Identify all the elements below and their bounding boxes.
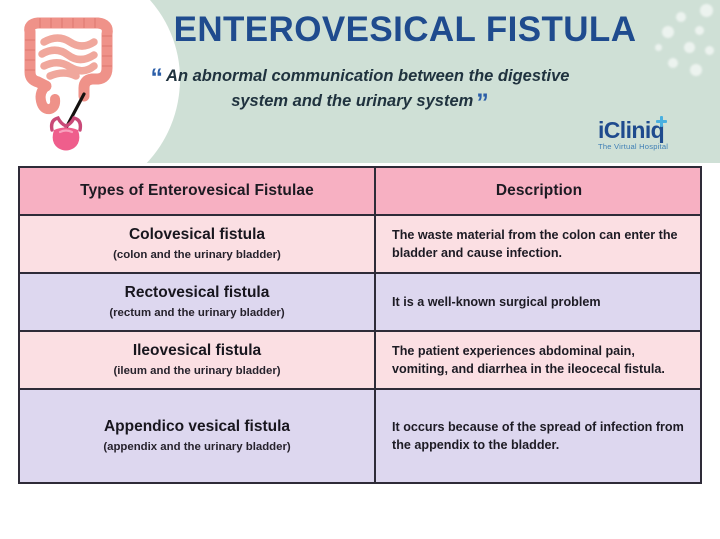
logo-wordmark: iCliniq — [598, 118, 664, 142]
fistula-type-name: Ileovesical fistula — [133, 341, 261, 361]
cell-description: The patient experiences abdominal pain, … — [376, 332, 700, 388]
decorative-bubble — [668, 58, 678, 68]
quote-text-2: system and the urinary system — [231, 92, 473, 110]
fistula-type-subtitle: (appendix and the urinary bladder) — [103, 439, 290, 455]
intestine-and-bladder-illustration — [6, 6, 138, 154]
fistula-type-name: Colovesical fistula — [129, 225, 265, 245]
column-header-description-label: Description — [496, 182, 582, 200]
decorative-bubble — [695, 26, 704, 35]
decorative-bubble — [705, 46, 714, 55]
fistula-type-subtitle: (rectum and the urinary bladder) — [109, 305, 284, 321]
fistula-description: It is a well-known surgical problem — [392, 293, 686, 312]
header-band: ENTEROVESICAL FISTULA “An abnormal commu… — [0, 0, 720, 163]
cell-type: Appendico vesical fistula (appendix and … — [20, 390, 376, 482]
fistula-description: It occurs because of the spread of infec… — [392, 418, 686, 455]
large-intestine-icon — [25, 18, 112, 109]
table-header-row: Types of Enterovesical Fistulae Descript… — [20, 168, 700, 216]
infographic-page: ENTEROVESICAL FISTULA “An abnormal commu… — [0, 0, 720, 539]
decorative-bubble — [690, 64, 702, 76]
logo-text: iCliniq — [598, 117, 664, 143]
decorative-bubble — [676, 12, 686, 22]
cell-description: It is a well-known surgical problem — [376, 274, 700, 330]
column-header-types-label: Types of Enterovesical Fistulae — [80, 182, 314, 200]
quote-text-1: An abnormal communication between the di… — [166, 67, 569, 85]
quote-line-1: “An abnormal communication between the d… — [140, 64, 580, 89]
logo-tagline: The Virtual Hospital — [598, 142, 710, 152]
fistula-type-name: Appendico vesical fistula — [104, 417, 290, 437]
cell-type: Rectovesical fistula (rectum and the uri… — [20, 274, 376, 330]
close-quote-icon: ” — [476, 89, 489, 117]
quote-block: “An abnormal communication between the d… — [140, 64, 580, 114]
fistula-description: The waste material from the colon can en… — [392, 226, 686, 263]
table-row: Appendico vesical fistula (appendix and … — [20, 390, 700, 482]
cell-description: The waste material from the colon can en… — [376, 216, 700, 272]
fistula-type-subtitle: (ileum and the urinary bladder) — [113, 363, 280, 379]
fistula-type-name: Rectovesical fistula — [125, 283, 270, 303]
open-quote-icon: “ — [151, 64, 164, 92]
cell-type: Colovesical fistula (colon and the urina… — [20, 216, 376, 272]
column-header-types: Types of Enterovesical Fistulae — [20, 168, 376, 214]
cell-type: Ileovesical fistula (ileum and the urina… — [20, 332, 376, 388]
decorative-bubble — [700, 4, 713, 17]
decorative-bubble — [684, 42, 695, 53]
fistula-type-subtitle: (colon and the urinary bladder) — [113, 247, 281, 263]
fistula-description: The patient experiences abdominal pain, … — [392, 342, 686, 379]
cell-description: It occurs because of the spread of infec… — [376, 390, 700, 482]
medical-cross-icon — [656, 116, 667, 127]
bladder-icon — [52, 118, 81, 151]
iclinic-logo[interactable]: iCliniq The Virtual Hospital — [598, 118, 710, 158]
page-title: ENTEROVESICAL FISTULA — [140, 8, 670, 52]
table-row: Rectovesical fistula (rectum and the uri… — [20, 274, 700, 332]
table-row: Ileovesical fistula (ileum and the urina… — [20, 332, 700, 390]
table-row: Colovesical fistula (colon and the urina… — [20, 216, 700, 274]
fistula-types-table: Types of Enterovesical Fistulae Descript… — [18, 166, 702, 484]
quote-line-2: system and the urinary system” — [140, 89, 580, 114]
column-header-description: Description — [376, 168, 700, 214]
